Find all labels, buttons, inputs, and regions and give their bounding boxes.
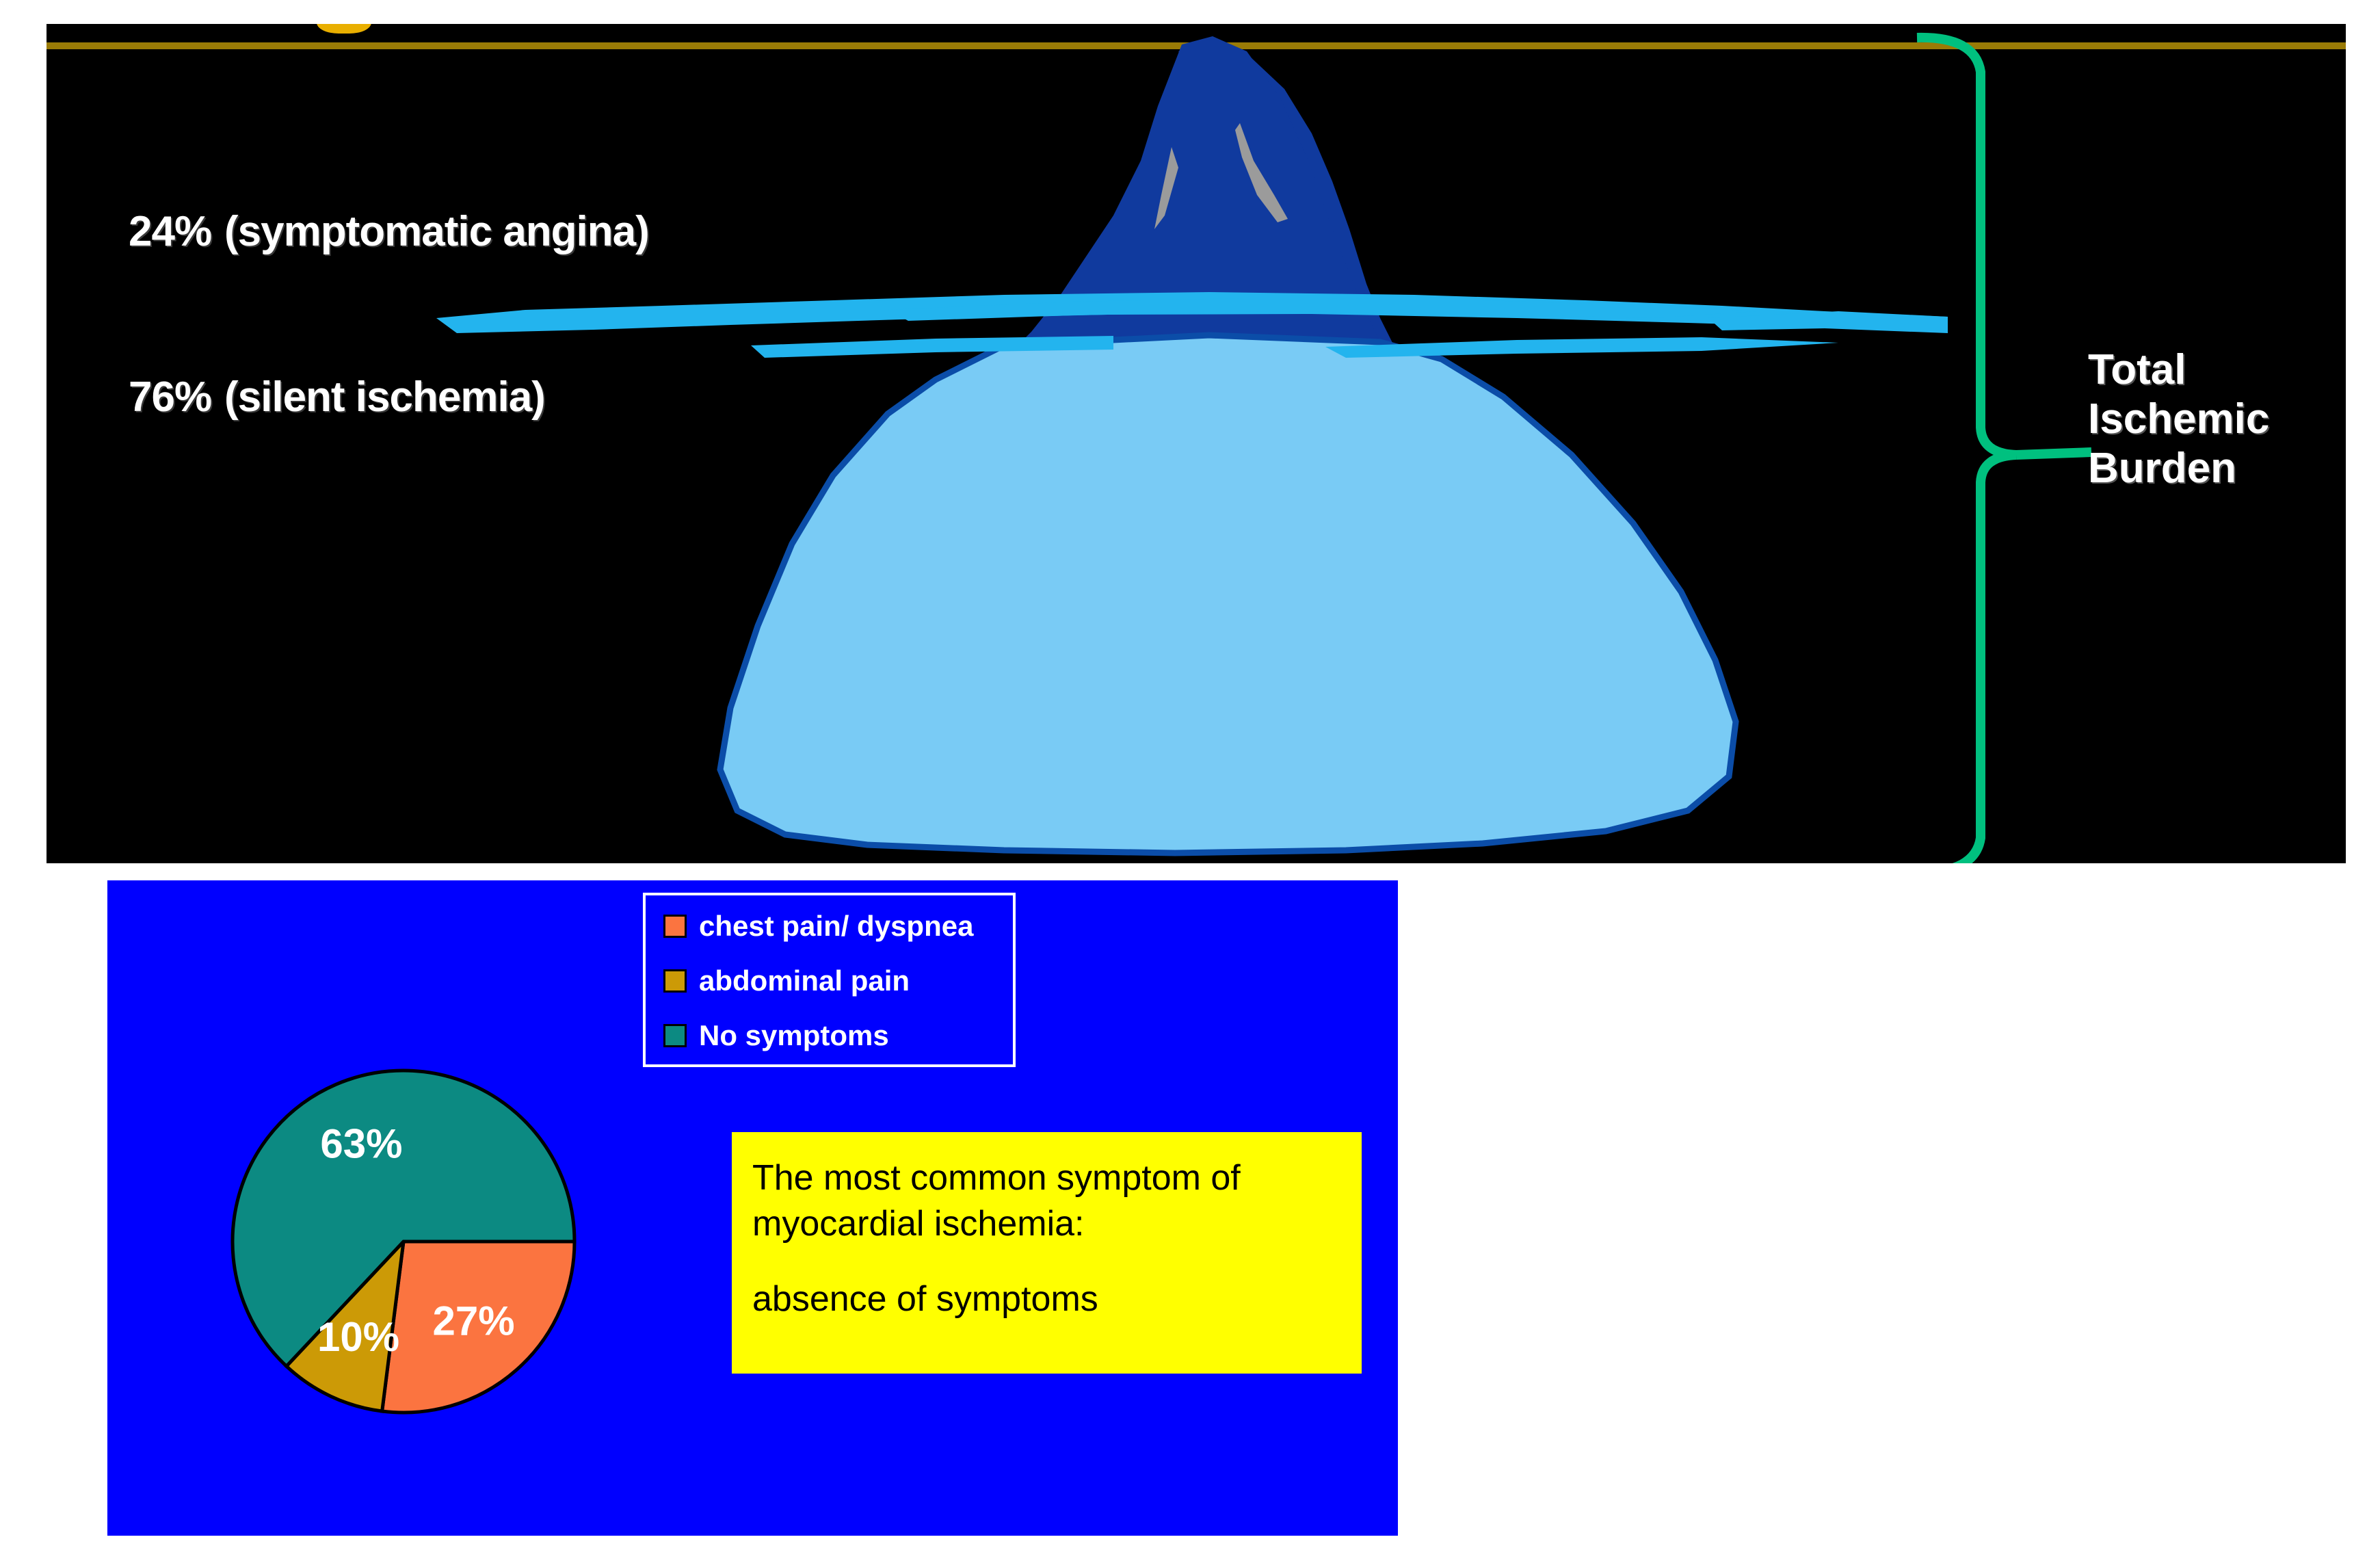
legend-swatch-chest-pain [663,915,687,938]
yellow-callout-box: The most common symptom of myocardial is… [732,1132,1362,1374]
burden-line-2: Ischemic [2088,395,2341,444]
legend-label-no-symptoms: No symptoms [699,1021,889,1050]
iceberg-row-symptomatic: 24%(symptomatic angina) [129,207,649,256]
burden-line-3: Burden [2088,444,2341,493]
legend-label-chest-pain: chest pain/ dyspnea [699,912,973,941]
legend-label-abdominal-pain: abdominal pain [699,967,910,995]
legend-item-abdominal-pain[interactable]: abdominal pain [663,965,1013,997]
bracket-pointer-line [2016,452,2091,455]
silent-percent: 76% [129,373,224,421]
legend-item-chest-pain[interactable]: chest pain/ dyspnea [663,910,1013,942]
pie-chart-panel: 63% 27% 10% chest pain/ dyspnea abdomina… [107,880,1398,1536]
callout-line-3: absence of symptoms [752,1276,1343,1322]
total-ischemic-burden-label: Total Ischemic Burden [2088,345,2341,493]
pie-legend: chest pain/ dyspnea abdominal pain No sy… [643,893,1016,1067]
pie-label-no-symptoms: 63% [320,1121,402,1167]
iceberg-illustration [47,24,2346,863]
silent-label: (silent ischemia) [224,373,545,421]
callout-line-2: myocardial ischemia: [752,1201,1343,1247]
iceberg-row-silent: 76%(silent ischemia) [129,373,545,421]
symptomatic-label: (symptomatic angina) [224,208,649,255]
pie-label-abdominal-pain: 10% [317,1314,399,1360]
pie-label-chest-pain: 27% [432,1298,514,1343]
symptomatic-percent: 24% [129,207,224,256]
total-ischemic-burden-bracket [1917,38,2016,863]
waterline-strip-lower-right [1325,337,1838,358]
iceberg-body-shape [720,335,1736,853]
callout-line-1: The most common symptom of [752,1155,1343,1201]
callout-spacer [752,1246,1343,1276]
legend-swatch-no-symptoms [663,1024,687,1047]
legend-item-no-symptoms[interactable]: No symptoms [663,1020,1013,1051]
legend-swatch-abdominal-pain [663,969,687,993]
iceberg-panel: 24%(symptomatic angina) 76%(silent ische… [47,24,2346,863]
burden-line-1: Total [2088,345,2341,395]
